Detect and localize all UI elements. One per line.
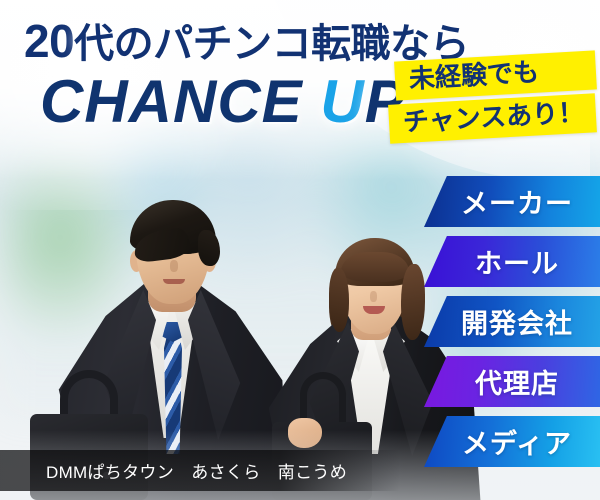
category-label: 代理店 [465,362,559,401]
woman-nose [370,291,377,302]
man-hair-side [198,230,220,266]
category-label: ホール [465,242,559,281]
category-label: メーカー [451,182,573,221]
headline-age-number: 20 [24,15,74,67]
footer-credit-text: DMMぱちタウン あさくら 南こうめ [0,458,347,483]
banner-advertisement[interactable]: 20代のパチンコ転職なら CHANCE UP 未経験でも チャンスあり！ メーカ… [0,0,600,500]
category-bar-media[interactable]: メディア [424,416,600,467]
category-label: メディア [452,422,572,461]
category-bar-maker[interactable]: メーカー [424,176,600,227]
footer-credit-band: DMMぱちタウン あさくら 南こうめ [0,450,400,491]
man-mouth [163,279,185,284]
promo-badge: 未経験でも チャンスあり！ [395,56,596,139]
category-label: 開発会社 [451,302,573,341]
woman-hair-strand-right [401,264,425,340]
man-nose [170,260,178,272]
woman-hair-strand-left [329,268,349,332]
headline-u-accent: U [320,68,364,135]
woman-hair-bangs [341,252,409,282]
headline-line-1: 20代のパチンコ転職なら [24,18,444,64]
category-bar-agency[interactable]: 代理店 [424,356,600,407]
promo-badge-line-2: チャンスあり！ [388,94,597,145]
headline-line-2: CHANCE UP [40,70,444,133]
headline-chance-text: CHANCE [40,68,320,135]
promo-badge-line-1: 未経験でも [394,50,597,100]
category-list: メーカー ホール 開発会社 代理店 メディア [424,176,600,467]
category-bar-hall[interactable]: ホール [424,236,600,287]
headline-group: 20代のパチンコ転職なら CHANCE UP [24,18,444,133]
category-bar-development-company[interactable]: 開発会社 [424,296,600,347]
